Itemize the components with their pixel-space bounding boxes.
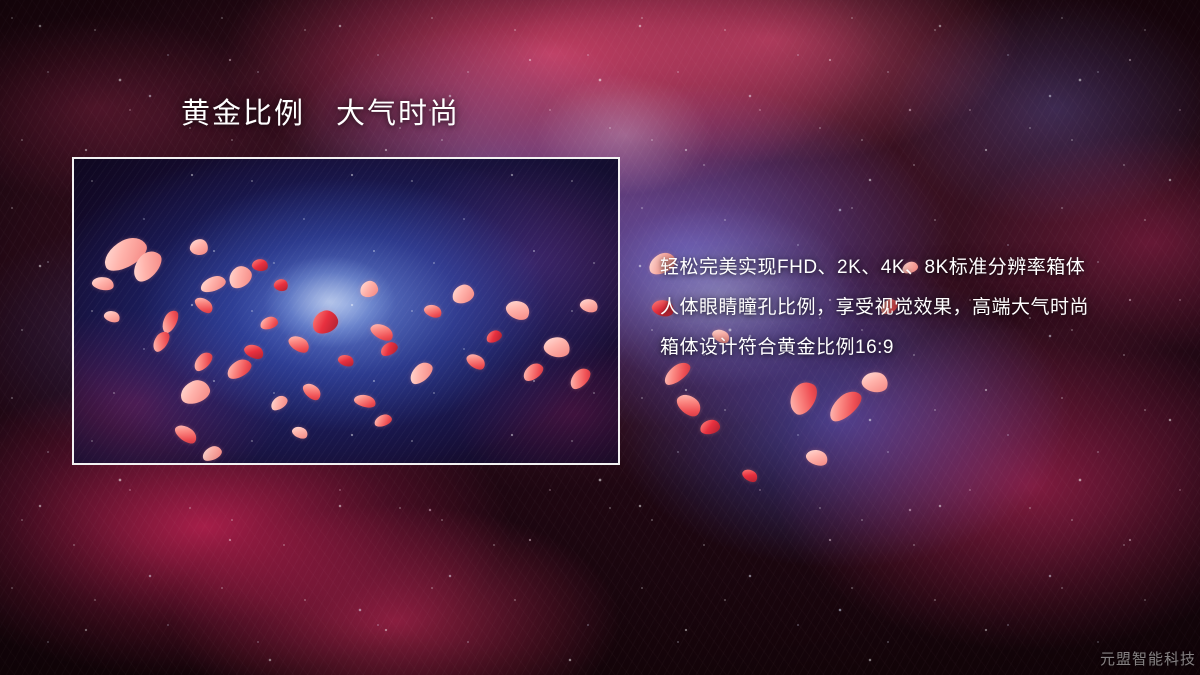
petal: [673, 390, 704, 421]
petal: [699, 418, 721, 435]
page-title: 黄金比例 大气时尚: [181, 100, 460, 129]
watermark: 元盟智能科技: [1100, 648, 1196, 669]
petal: [824, 386, 866, 426]
body-text-block: 轻松完美实现FHD、2K、4K、8K标准分辨率箱体 人体眼睛瞳孔比例，享受视觉效…: [660, 258, 1089, 378]
body-line: 轻松完美实现FHD、2K、4K、8K标准分辨率箱体: [660, 258, 1089, 277]
framed-image-panel[interactable]: [72, 157, 620, 465]
petal: [804, 446, 830, 468]
body-line: 箱体设计符合黄金比例16:9: [660, 338, 1089, 357]
petal: [784, 377, 822, 419]
panel-vignette: [74, 159, 618, 463]
slide-canvas: 黄金比例 大气时尚 轻松完美实现FHD、2K、4K、8K标准分辨率箱体 人体眼睛…: [0, 0, 1200, 675]
body-line: 人体眼睛瞳孔比例，享受视觉效果，高端大气时尚: [660, 298, 1089, 317]
petal: [740, 466, 759, 484]
